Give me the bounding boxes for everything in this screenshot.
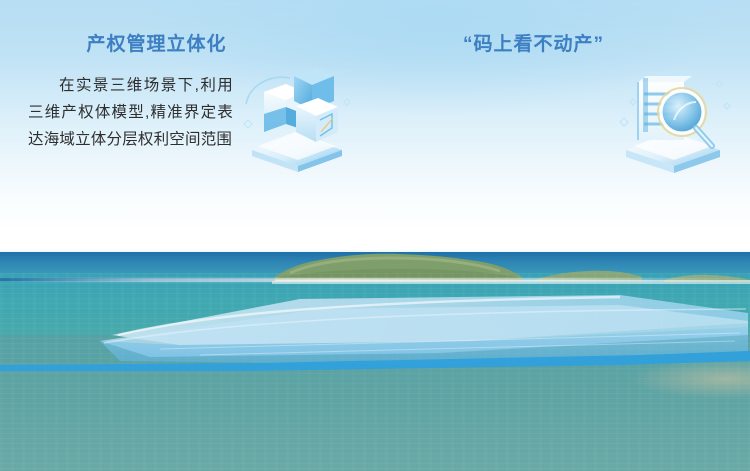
sea-area-rights-infographic: 产权管理立体化 在实景三维场景下,利用三维产权体模型,精准界定表达海域立体分层权…	[0, 0, 750, 471]
sea-scene-photo	[0, 249, 750, 471]
panel-qr-code-real-estate: “码上看不动产” 证书集成“一证一码”功能,权利人扫描证书上的二维码,可实时查看…	[375, 0, 750, 250]
info-panels: 产权管理立体化 在实景三维场景下,利用三维产权体模型,精准界定表达海域立体分层权…	[0, 0, 750, 250]
panel-heading-right: “码上看不动产”	[375, 29, 750, 56]
panel-body-left: 在实景三维场景下,利用三维产权体模型,精准界定表达海域立体分层权利空间范围	[28, 72, 233, 153]
panel-heading-left: 产权管理立体化	[0, 29, 375, 56]
panel-property-rights-3d: 产权管理立体化 在实景三维场景下,利用三维产权体模型,精准界定表达海域立体分层权…	[0, 0, 375, 250]
sea-area-rights-volume-block	[0, 279, 750, 399]
three-dimensional-cubes-on-platform-icon	[238, 62, 353, 172]
certificate-with-magnifier-icon	[616, 62, 738, 174]
